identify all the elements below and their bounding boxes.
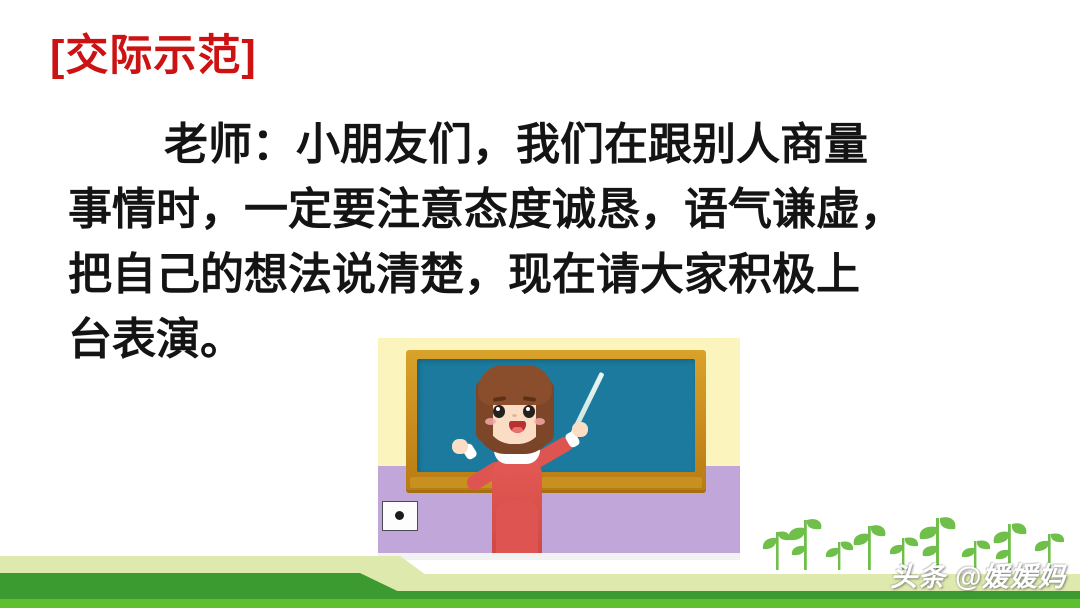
teacher-nose [512,414,517,417]
light-switch-knob [395,511,404,520]
body-line-3: 把自己的想法说清楚，现在请大家积极上 [68,242,988,307]
teacher-eye-right [523,405,535,418]
teacher-blackboard-illustration [378,338,740,560]
body-line-2: 事情时，一定要注意态度诚恳，语气谦虚， [68,177,988,242]
teacher-eye-left [493,405,505,418]
light-switch-icon [382,501,418,531]
teacher-tongue [512,427,523,433]
banner-bright-strip [0,599,1080,608]
teacher-cheek-left [485,418,496,425]
teacher-left-hand [452,439,468,454]
teacher-right-hand [572,422,588,437]
body-line-1: 老师：小朋友们，我们在跟别人商量 [68,112,988,177]
teacher-figure [452,360,602,560]
page-title: [交际示范] [50,30,257,84]
teacher-cheek-right [534,418,545,425]
body-text-block: 老师：小朋友们，我们在跟别人商量 事情时，一定要注意态度诚恳，语气谦虚， 把自己… [68,112,988,372]
teacher-hair-fringe [478,365,552,405]
slide-canvas: [交际示范] 老师：小朋友们，我们在跟别人商量 事情时，一定要注意态度诚恳，语气… [0,0,1080,608]
watermark-text: 头条 @媛媛妈 [890,555,1066,594]
